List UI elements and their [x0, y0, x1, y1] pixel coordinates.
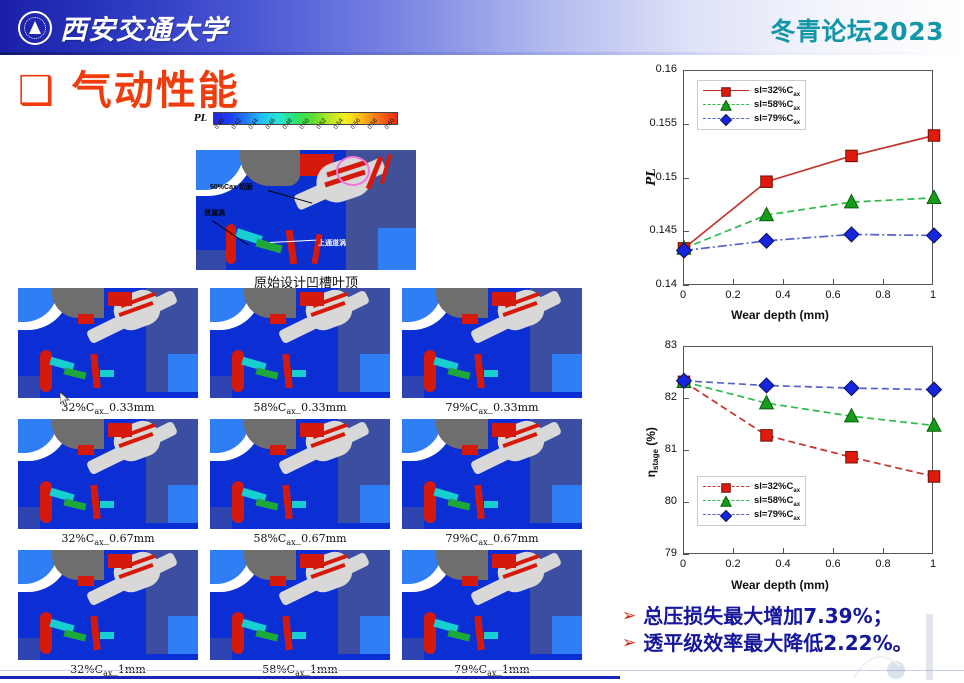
- contour-cell: 79%Cax_0.67mm: [402, 419, 582, 547]
- pressure-loss-ylabel: PL: [644, 157, 658, 197]
- legend-marker-icon: [719, 86, 733, 98]
- legend-item: sl=79%Cax: [703, 112, 800, 126]
- university-logo: 西安交通大学: [18, 8, 228, 47]
- legend-marker-icon: [719, 482, 733, 494]
- bullet-text: 总压损失最大增加7.39%；: [643, 604, 892, 629]
- pressure-loss-chart: 0.140.1450.150.1550.1600.20.40.60.81 Wea…: [625, 58, 958, 330]
- x-axis-tick-mark: [883, 279, 884, 285]
- y-axis-tick-mark: [683, 124, 689, 125]
- x-axis-tick-label: 1: [922, 558, 944, 570]
- pressure-loss-legend: sl=32%Cax sl=58%Cax sl=79%Cax: [697, 80, 806, 130]
- arrow-right-icon: ➢: [622, 631, 636, 655]
- stage-efficiency-chart: 798081828300.20.40.60.81 Wear depth (mm)…: [625, 336, 958, 598]
- university-name: 西安交通大学: [60, 8, 228, 47]
- bullet-text: 透平级效率最大降低2.22%。: [643, 631, 912, 656]
- contour-cell-label: 32%Cax_0.33mm: [18, 401, 198, 416]
- colorbar-label: PL: [194, 114, 207, 124]
- legend-marker-icon: [719, 100, 733, 112]
- y-axis-tick-label: 0.16: [625, 63, 677, 75]
- legend-label: sl=32%Cax: [754, 481, 800, 494]
- page-title: ❑ 气动性能: [18, 58, 240, 116]
- y-axis-tick-label: 83: [625, 339, 677, 351]
- contour-cell-label: 32%Cax_0.67mm: [18, 532, 198, 547]
- summary-bullets: ➢总压损失最大增加7.39%；➢透平级效率最大降低2.22%。: [622, 604, 962, 658]
- x-axis-tick-label: 0: [672, 289, 694, 301]
- x-axis-tick-mark: [833, 548, 834, 554]
- y-axis-tick-mark: [683, 231, 689, 232]
- university-emblem-icon: [18, 11, 52, 45]
- y-axis-tick-mark: [683, 178, 689, 179]
- legend-item: sl=58%Cax: [703, 98, 800, 112]
- annotation-upper-passage-vortex: 上通道涡: [318, 238, 346, 248]
- contour-cell: 58%Cax_1mm: [210, 550, 390, 678]
- legend-line-sample: [703, 509, 749, 521]
- legend-marker-icon: [719, 510, 733, 522]
- x-axis-tick-mark: [883, 548, 884, 554]
- y-axis-tick-mark: [683, 70, 689, 71]
- y-axis-tick-mark: [683, 398, 689, 399]
- stage-efficiency-xlabel: Wear depth (mm): [731, 578, 829, 592]
- annotation-section: 50%Cax 切面: [210, 182, 253, 192]
- contour-cell: 32%Cax_0.33mm: [18, 288, 198, 416]
- arrow-right-icon: ➢: [622, 604, 636, 628]
- contour-plot-original: 50%Cax 切面 泄漏涡 上通道涡: [196, 150, 416, 270]
- top-contour-figure: PL 0.400.420.440.460.480.500.520.540.560…: [186, 112, 426, 297]
- contour-cell-label: 58%Cax_0.67mm: [210, 532, 390, 547]
- stage-efficiency-ylabel: ηstage (%): [644, 417, 660, 487]
- header-divider: [0, 52, 964, 55]
- contour-cell-label: 79%Cax_0.33mm: [402, 401, 582, 416]
- contour-cell-label: 79%Cax_0.67mm: [402, 532, 582, 547]
- legend-item: sl=58%Cax: [703, 494, 800, 508]
- contour-cell: 32%Cax_1mm: [18, 550, 198, 678]
- y-axis-tick-label: 0.145: [625, 224, 677, 236]
- legend-label: sl=58%Cax: [754, 495, 800, 508]
- x-axis-tick-label: 0.8: [872, 558, 894, 570]
- y-axis-tick-mark: [683, 554, 689, 555]
- contour-thumbnail: [402, 419, 582, 529]
- x-axis-tick-label: 1: [922, 289, 944, 301]
- legend-line-sample: [703, 99, 749, 111]
- contour-cell: 32%Cax_0.67mm: [18, 419, 198, 547]
- contour-thumbnail: [210, 419, 390, 529]
- x-axis-tick-mark: [733, 279, 734, 285]
- y-axis-tick-mark: [683, 450, 689, 451]
- legend-line-sample: [703, 85, 749, 97]
- legend-line-sample: [703, 495, 749, 507]
- x-axis-tick-mark: [783, 279, 784, 285]
- contour-thumbnail: [402, 288, 582, 398]
- bottom-hairline: [0, 670, 964, 671]
- y-axis-tick-label: 79: [625, 547, 677, 559]
- x-axis-tick-label: 0.4: [772, 289, 794, 301]
- legend-label: sl=32%Cax: [754, 85, 800, 98]
- stage-efficiency-legend: sl=32%Cax sl=58%Cax sl=79%Cax: [697, 476, 806, 526]
- contour-thumbnail: [18, 419, 198, 529]
- x-axis-tick-mark: [783, 548, 784, 554]
- legend-line-sample: [703, 481, 749, 493]
- legend-marker-icon: [719, 114, 733, 126]
- y-axis-tick-label: 0.14: [625, 278, 677, 290]
- legend-marker-icon: [719, 496, 733, 508]
- y-axis-tick-mark: [683, 285, 689, 286]
- contour-cell: 58%Cax_0.33mm: [210, 288, 390, 416]
- x-axis-tick-label: 0.6: [822, 558, 844, 570]
- legend-label: sl=79%Cax: [754, 509, 800, 522]
- contour-cell-label: 58%Cax_0.33mm: [210, 401, 390, 416]
- y-axis-tick-label: 0.155: [625, 117, 677, 129]
- colorbar-ticks: 0.400.420.440.460.480.500.520.540.560.58…: [214, 127, 399, 149]
- contour-thumbnail: [210, 288, 390, 398]
- bottom-rule: [0, 676, 620, 679]
- contour-thumbnail: [18, 288, 198, 398]
- x-axis-tick-mark: [733, 548, 734, 554]
- legend-item: sl=79%Cax: [703, 508, 800, 522]
- bullet-item: ➢总压损失最大增加7.39%；: [622, 604, 962, 629]
- x-axis-tick-mark: [833, 279, 834, 285]
- x-axis-tick-label: 0.4: [772, 558, 794, 570]
- legend-label: sl=58%Cax: [754, 99, 800, 112]
- x-axis-tick-label: 0.2: [722, 289, 744, 301]
- annotation-leakage-vortex: 泄漏涡: [204, 208, 225, 218]
- slide-header: 西安交通大学 冬青论坛2023: [0, 0, 964, 52]
- legend-line-sample: [703, 113, 749, 125]
- y-axis-tick-mark: [683, 346, 689, 347]
- contour-cell: 58%Cax_0.67mm: [210, 419, 390, 547]
- legend-item: sl=32%Cax: [703, 480, 800, 494]
- legend-label: sl=79%Cax: [754, 113, 800, 126]
- contour-thumbnail: [210, 550, 390, 660]
- contour-cell: 79%Cax_0.33mm: [402, 288, 582, 416]
- bullet-item: ➢透平级效率最大降低2.22%。: [622, 631, 962, 656]
- legend-item: sl=32%Cax: [703, 84, 800, 98]
- forum-title: 冬青论坛2023: [770, 12, 944, 48]
- y-axis-tick-label: 82: [625, 391, 677, 403]
- contour-cell: 79%Cax_1mm: [402, 550, 582, 678]
- x-axis-tick-label: 0.8: [872, 289, 894, 301]
- contour-grid: 32%Cax_0.33mm 58%Cax_0.33mm: [18, 288, 598, 683]
- x-axis-tick-label: 0.6: [822, 289, 844, 301]
- y-axis-tick-mark: [683, 502, 689, 503]
- mouse-cursor-icon: [60, 392, 70, 407]
- contour-thumbnail: [18, 550, 198, 660]
- x-axis-tick-label: 0: [672, 558, 694, 570]
- x-axis-tick-label: 0.2: [722, 558, 744, 570]
- contour-thumbnail: [402, 550, 582, 660]
- pressure-loss-xlabel: Wear depth (mm): [731, 308, 829, 322]
- y-axis-tick-label: 80: [625, 495, 677, 507]
